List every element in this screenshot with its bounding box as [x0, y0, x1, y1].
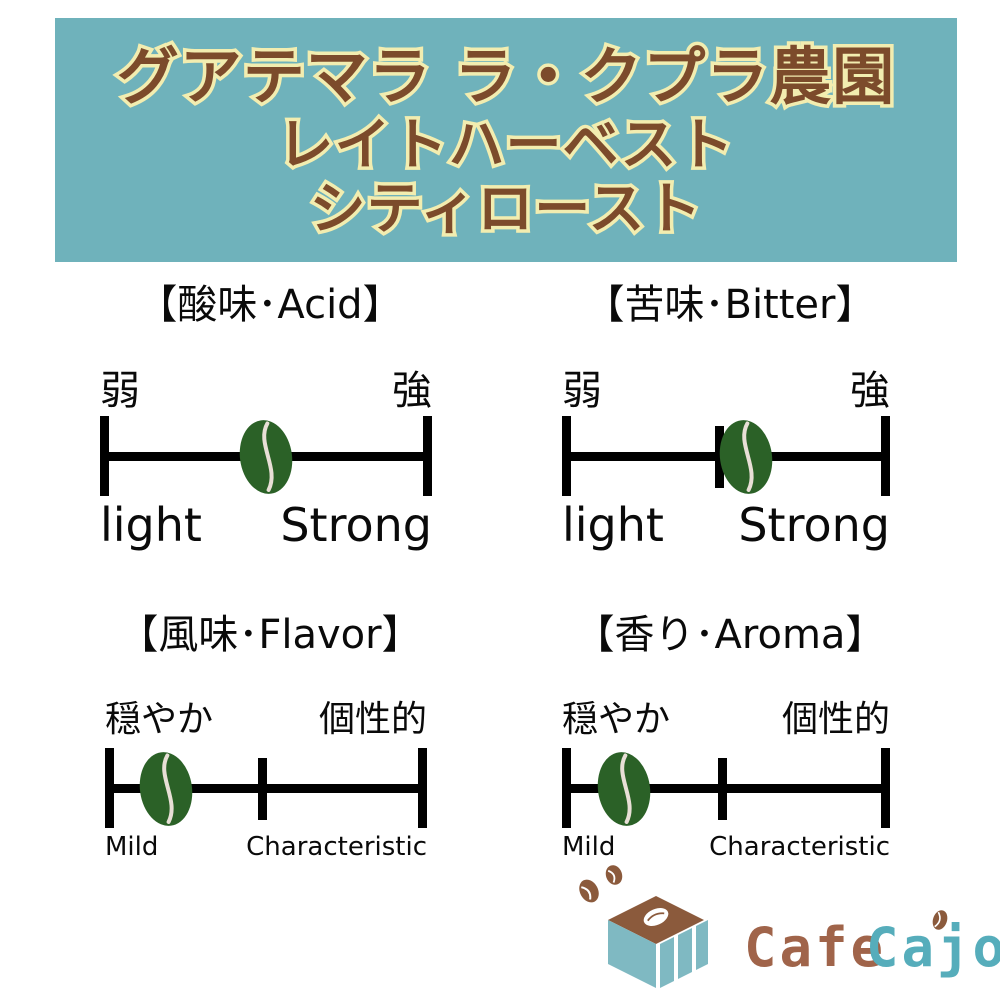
- logo-word-cafe: Cafe: [744, 916, 886, 979]
- scale-bitter: 弱 強 light Strong: [562, 358, 890, 558]
- title-line-1: グアテマラ ラ・クプラ農園: [117, 46, 896, 108]
- title-line-2: レイトハーベスト: [277, 118, 734, 174]
- scale-flavor-tick-end: [418, 748, 427, 828]
- scale-acid-tick-start: [100, 416, 109, 496]
- scale-bitter-tick-start: [562, 416, 571, 496]
- scale-flavor-label-right-jp: 個性的: [319, 690, 427, 742]
- section-title-flavor: 【風味･Flavor】: [60, 602, 480, 660]
- title-line-3: シティロースト: [310, 182, 703, 238]
- floating-bean-icon-1: [575, 876, 602, 906]
- logo-word-cajon: Cajon: [866, 916, 1000, 979]
- scale-aroma-axis: [562, 748, 890, 828]
- floating-bean-icon-2: [603, 863, 625, 887]
- scale-aroma-tick-end: [881, 748, 890, 828]
- scale-flavor-tick-start: [105, 748, 114, 828]
- scale-flavor-axis: [105, 748, 427, 828]
- scale-flavor-tick-mid: [258, 758, 267, 820]
- coffee-bean-marker-aroma: [596, 750, 652, 828]
- scale-acid-label-left-jp: 弱: [100, 358, 140, 416]
- scale-acid-tick-end: [423, 416, 432, 496]
- coffee-bean-marker-flavor: [138, 750, 194, 828]
- scale-flavor-label-left-jp: 穏やか: [105, 690, 213, 742]
- scale-aroma-label-left-en: Mild: [562, 832, 615, 862]
- scale-bitter-tick-end: [881, 416, 890, 496]
- cafe-cajon-logo: Cafe Cajon: [548, 862, 1000, 994]
- section-title-bitter: 【苦味･Bitter】: [510, 272, 950, 330]
- scale-aroma: 穏やか 個性的 Mild Characteristic: [562, 690, 890, 880]
- scale-aroma-label-left-jp: 穏やか: [562, 690, 670, 742]
- scale-acid: 弱 強 light Strong: [100, 358, 432, 558]
- section-title-acid: 【酸味･Acid】: [60, 272, 480, 330]
- section-title-aroma: 【香り･Aroma】: [510, 602, 950, 660]
- scale-flavor-label-right-en: Characteristic: [246, 832, 427, 862]
- scale-aroma-tick-mid: [718, 758, 727, 820]
- scale-aroma-tick-start: [562, 748, 571, 828]
- coffee-bean-marker-bitter: [718, 418, 774, 496]
- scale-acid-axis: [100, 416, 432, 496]
- scale-aroma-label-right-jp: 個性的: [782, 690, 890, 742]
- title-banner: グアテマラ ラ・クプラ農園 レイトハーベスト シティロースト: [55, 18, 957, 262]
- scale-aroma-label-right-en: Characteristic: [709, 832, 890, 862]
- coffee-bean-marker-acid: [238, 418, 294, 496]
- scale-bitter-axis: [562, 416, 890, 496]
- scale-flavor: 穏やか 個性的 Mild Characteristic: [105, 690, 427, 880]
- cajon-slat-1: [660, 937, 674, 988]
- scale-bitter-label-left-jp: 弱: [562, 358, 602, 416]
- scale-bitter-label-right-en: Strong: [738, 498, 890, 552]
- scale-bitter-label-right-jp: 強: [850, 358, 890, 416]
- scale-acid-label-right-jp: 強: [392, 358, 432, 416]
- cajon-slat-3: [696, 920, 708, 970]
- scale-bitter-label-left-en: light: [562, 498, 664, 552]
- scale-acid-label-left-en: light: [100, 498, 202, 552]
- cajon-slat-2: [678, 928, 692, 979]
- scale-flavor-label-left-en: Mild: [105, 832, 158, 862]
- scale-acid-label-right-en: Strong: [280, 498, 432, 552]
